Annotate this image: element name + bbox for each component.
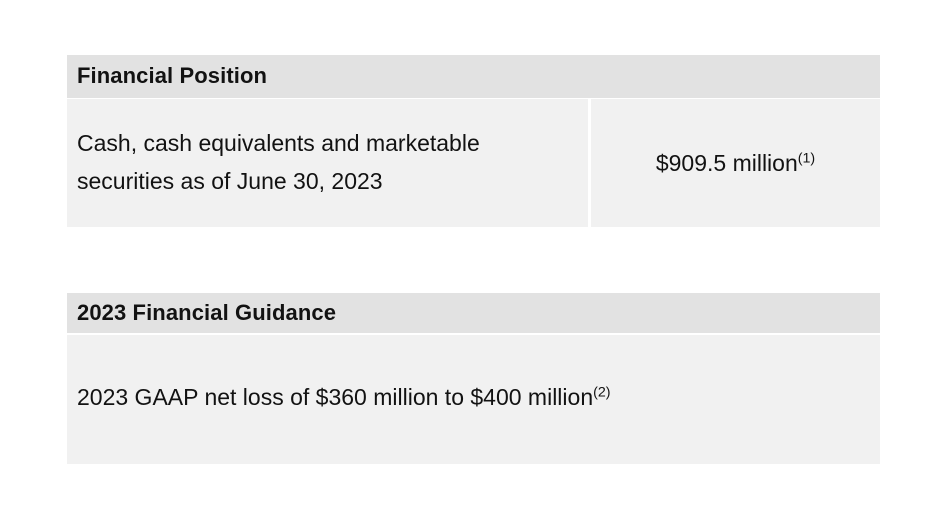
financial-position-body-row: Cash, cash equivalents and marketable se… [67,99,880,227]
financial-position-value-text: $909.5 million(1) [656,147,815,179]
financial-guidance-label-cell: 2023 GAAP net loss of $360 million to $4… [67,335,880,464]
financial-position-table: Financial Position Cash, cash equivalent… [67,55,880,227]
financial-position-label-text: Cash, cash equivalents and marketable se… [77,125,574,201]
financial-guidance-label-content: 2023 GAAP net loss of $360 million to $4… [77,384,593,410]
financial-position-value-cell: $909.5 million(1) [591,99,880,227]
financial-position-header-row: Financial Position [67,55,880,98]
slide-canvas: Financial Position Cash, cash equivalent… [0,0,941,513]
financial-guidance-table: 2023 Financial Guidance 2023 GAAP net lo… [67,293,880,464]
financial-position-value-amount: $909.5 million [656,150,798,176]
financial-guidance-label-text: 2023 GAAP net loss of $360 million to $4… [77,335,611,413]
financial-position-label-cell: Cash, cash equivalents and marketable se… [67,99,588,227]
financial-guidance-header-label: 2023 Financial Guidance [67,301,336,325]
financial-position-footnote-marker: (1) [798,150,815,166]
financial-guidance-body-row: 2023 GAAP net loss of $360 million to $4… [67,335,880,464]
financial-guidance-header-row: 2023 Financial Guidance [67,293,880,333]
financial-position-header-label: Financial Position [67,64,267,88]
financial-guidance-footnote-marker: (2) [593,384,610,400]
